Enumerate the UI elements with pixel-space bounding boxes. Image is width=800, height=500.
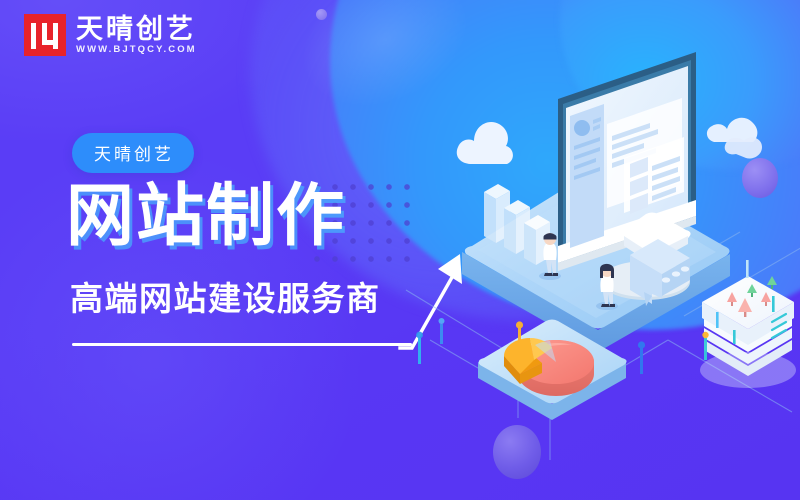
brand-name-cn: 天晴创艺 [76,16,197,43]
hero-subheadline: 高端网站建设服务商 [70,281,381,317]
hero-headline: 网站制作 [66,182,346,253]
brand-logo[interactable]: 天晴创艺 WWW.BJTQCY.COM [24,14,197,56]
promo-banner: 天晴创艺 WWW.BJTQCY.COM 天晴创艺 网站制作 高端网站建设服务商 [0,0,800,500]
tree-marker [767,276,777,289]
hero-divider [72,343,412,346]
hero-badge: 天晴创艺 [72,133,194,173]
tqcy-square-logo-mark [24,14,66,56]
isometric-web-design-scene [400,40,800,480]
decorative-sphere [316,9,327,20]
brand-website: WWW.BJTQCY.COM [76,45,197,55]
